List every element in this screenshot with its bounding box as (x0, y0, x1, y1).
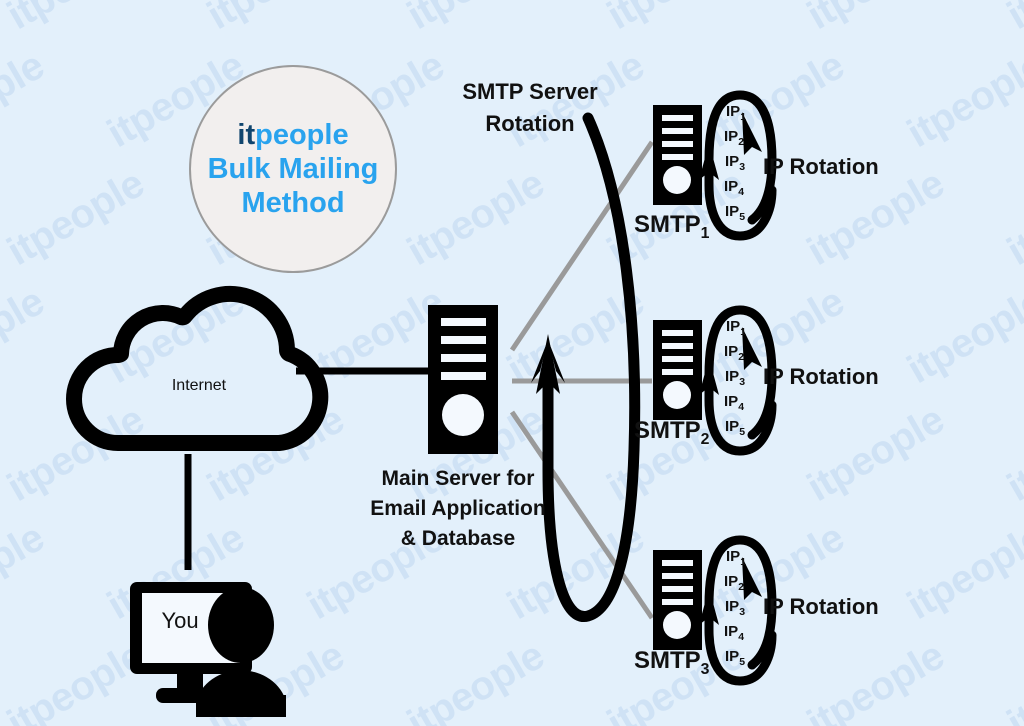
itpeople-logo-badge: itpeople Bulk Mailing Method (189, 65, 397, 273)
logo-people-text: people (255, 119, 348, 151)
ip-index-text: 3 (739, 606, 745, 618)
ip-prefix-text: IP (724, 343, 738, 360)
smtp-rotation-title: SMTP Server Rotation (426, 76, 634, 140)
ip-index-text: 4 (738, 631, 744, 643)
smtp1-name-label: SMTP1 (634, 211, 709, 243)
smtp3-ip-label-4: IP4 (724, 623, 744, 643)
ip-index-text: 5 (739, 211, 745, 223)
smtp2-ip-label-3: IP3 (725, 368, 745, 388)
smtp3-index-text: 3 (701, 661, 710, 678)
ip-prefix-text: IP (724, 178, 738, 195)
ip-prefix-text: IP (724, 623, 738, 640)
smtp2-ip-label-1: IP1 (726, 318, 746, 338)
ip-index-text: 3 (739, 161, 745, 173)
ip-prefix-text: IP (724, 393, 738, 410)
main-server-label-line-1: Main Server for (338, 464, 578, 494)
logo-title-line-3: Method (241, 186, 344, 220)
you-label: You (140, 608, 220, 634)
smtp2-ip-label-5: IP5 (725, 418, 745, 438)
ip-index-text: 4 (738, 186, 744, 198)
ip-index-text: 1 (740, 326, 746, 338)
ip-index-text: 2 (738, 351, 744, 363)
smtp1-index-text: 1 (701, 225, 710, 242)
ip-prefix-text: IP (725, 648, 739, 665)
ip-prefix-text: IP (726, 548, 740, 565)
ip-index-text: 1 (740, 111, 746, 123)
main-server-label: Main Server for Email Application & Data… (338, 464, 578, 553)
main-server-label-line-2: Email Application (338, 494, 578, 524)
ip-prefix-text: IP (724, 128, 738, 145)
diagram-canvas: itpeopleitpeopleitpeopleitpeopleitpeople… (0, 0, 1024, 726)
smtp3-name-text: SMTP (634, 647, 701, 674)
smtp3-ip-label-5: IP5 (725, 648, 745, 668)
smtp3-ip-label-3: IP3 (725, 598, 745, 618)
smtp1-ip-label-1: IP1 (726, 103, 746, 123)
smtp2-name-text: SMTP (634, 417, 701, 444)
ip-prefix-text: IP (725, 153, 739, 170)
smtp2-index-text: 2 (701, 431, 710, 448)
smtp2-server-icon (653, 320, 702, 420)
smtp2-ip-label-2: IP2 (724, 343, 744, 363)
main-server-icon (428, 305, 498, 454)
smtp1-server-icon (653, 105, 702, 205)
main-server-label-line-3: & Database (338, 524, 578, 554)
ip-prefix-text: IP (725, 418, 739, 435)
logo-title-line-2: Bulk Mailing (208, 152, 379, 186)
smtp3-ip-rotation-label: IP Rotation (763, 594, 879, 620)
ip-prefix-text: IP (726, 103, 740, 120)
ip-index-text: 5 (739, 656, 745, 668)
smtp1-ip-label-3: IP3 (725, 153, 745, 173)
ip-index-text: 4 (738, 401, 744, 413)
ip-index-text: 2 (738, 581, 744, 593)
smtp3-ip-label-1: IP1 (726, 548, 746, 568)
smtp1-ip-rotation-label: IP Rotation (763, 154, 879, 180)
smtp2-ip-rotation-label: IP Rotation (763, 364, 879, 390)
smtp3-ip-label-2: IP2 (724, 573, 744, 593)
logo-title-line-1: itpeople (237, 118, 348, 152)
ip-prefix-text: IP (725, 368, 739, 385)
ip-prefix-text: IP (725, 203, 739, 220)
smtp3-name-label: SMTP3 (634, 647, 709, 679)
smtp2-ip-label-4: IP4 (724, 393, 744, 413)
ip-index-text: 5 (739, 426, 745, 438)
smtp1-name-text: SMTP (634, 211, 701, 238)
internet-label: Internet (124, 377, 274, 395)
logo-it-text: it (237, 119, 255, 151)
ip-prefix-text: IP (724, 573, 738, 590)
internet-cloud-icon (74, 294, 320, 443)
ip-prefix-text: IP (726, 318, 740, 335)
smtp-rotation-title-line-2: Rotation (426, 108, 634, 140)
ip-index-text: 3 (739, 376, 745, 388)
ip-index-text: 2 (738, 136, 744, 148)
you-workstation-icon (130, 582, 286, 717)
ip-prefix-text: IP (725, 598, 739, 615)
smtp1-ip-label-5: IP5 (725, 203, 745, 223)
smtp3-server-icon (653, 550, 702, 650)
ip-index-text: 1 (740, 556, 746, 568)
smtp2-name-label: SMTP2 (634, 417, 709, 449)
smtp1-ip-label-2: IP2 (724, 128, 744, 148)
smtp-rotation-title-line-1: SMTP Server (426, 76, 634, 108)
smtp1-ip-label-4: IP4 (724, 178, 744, 198)
